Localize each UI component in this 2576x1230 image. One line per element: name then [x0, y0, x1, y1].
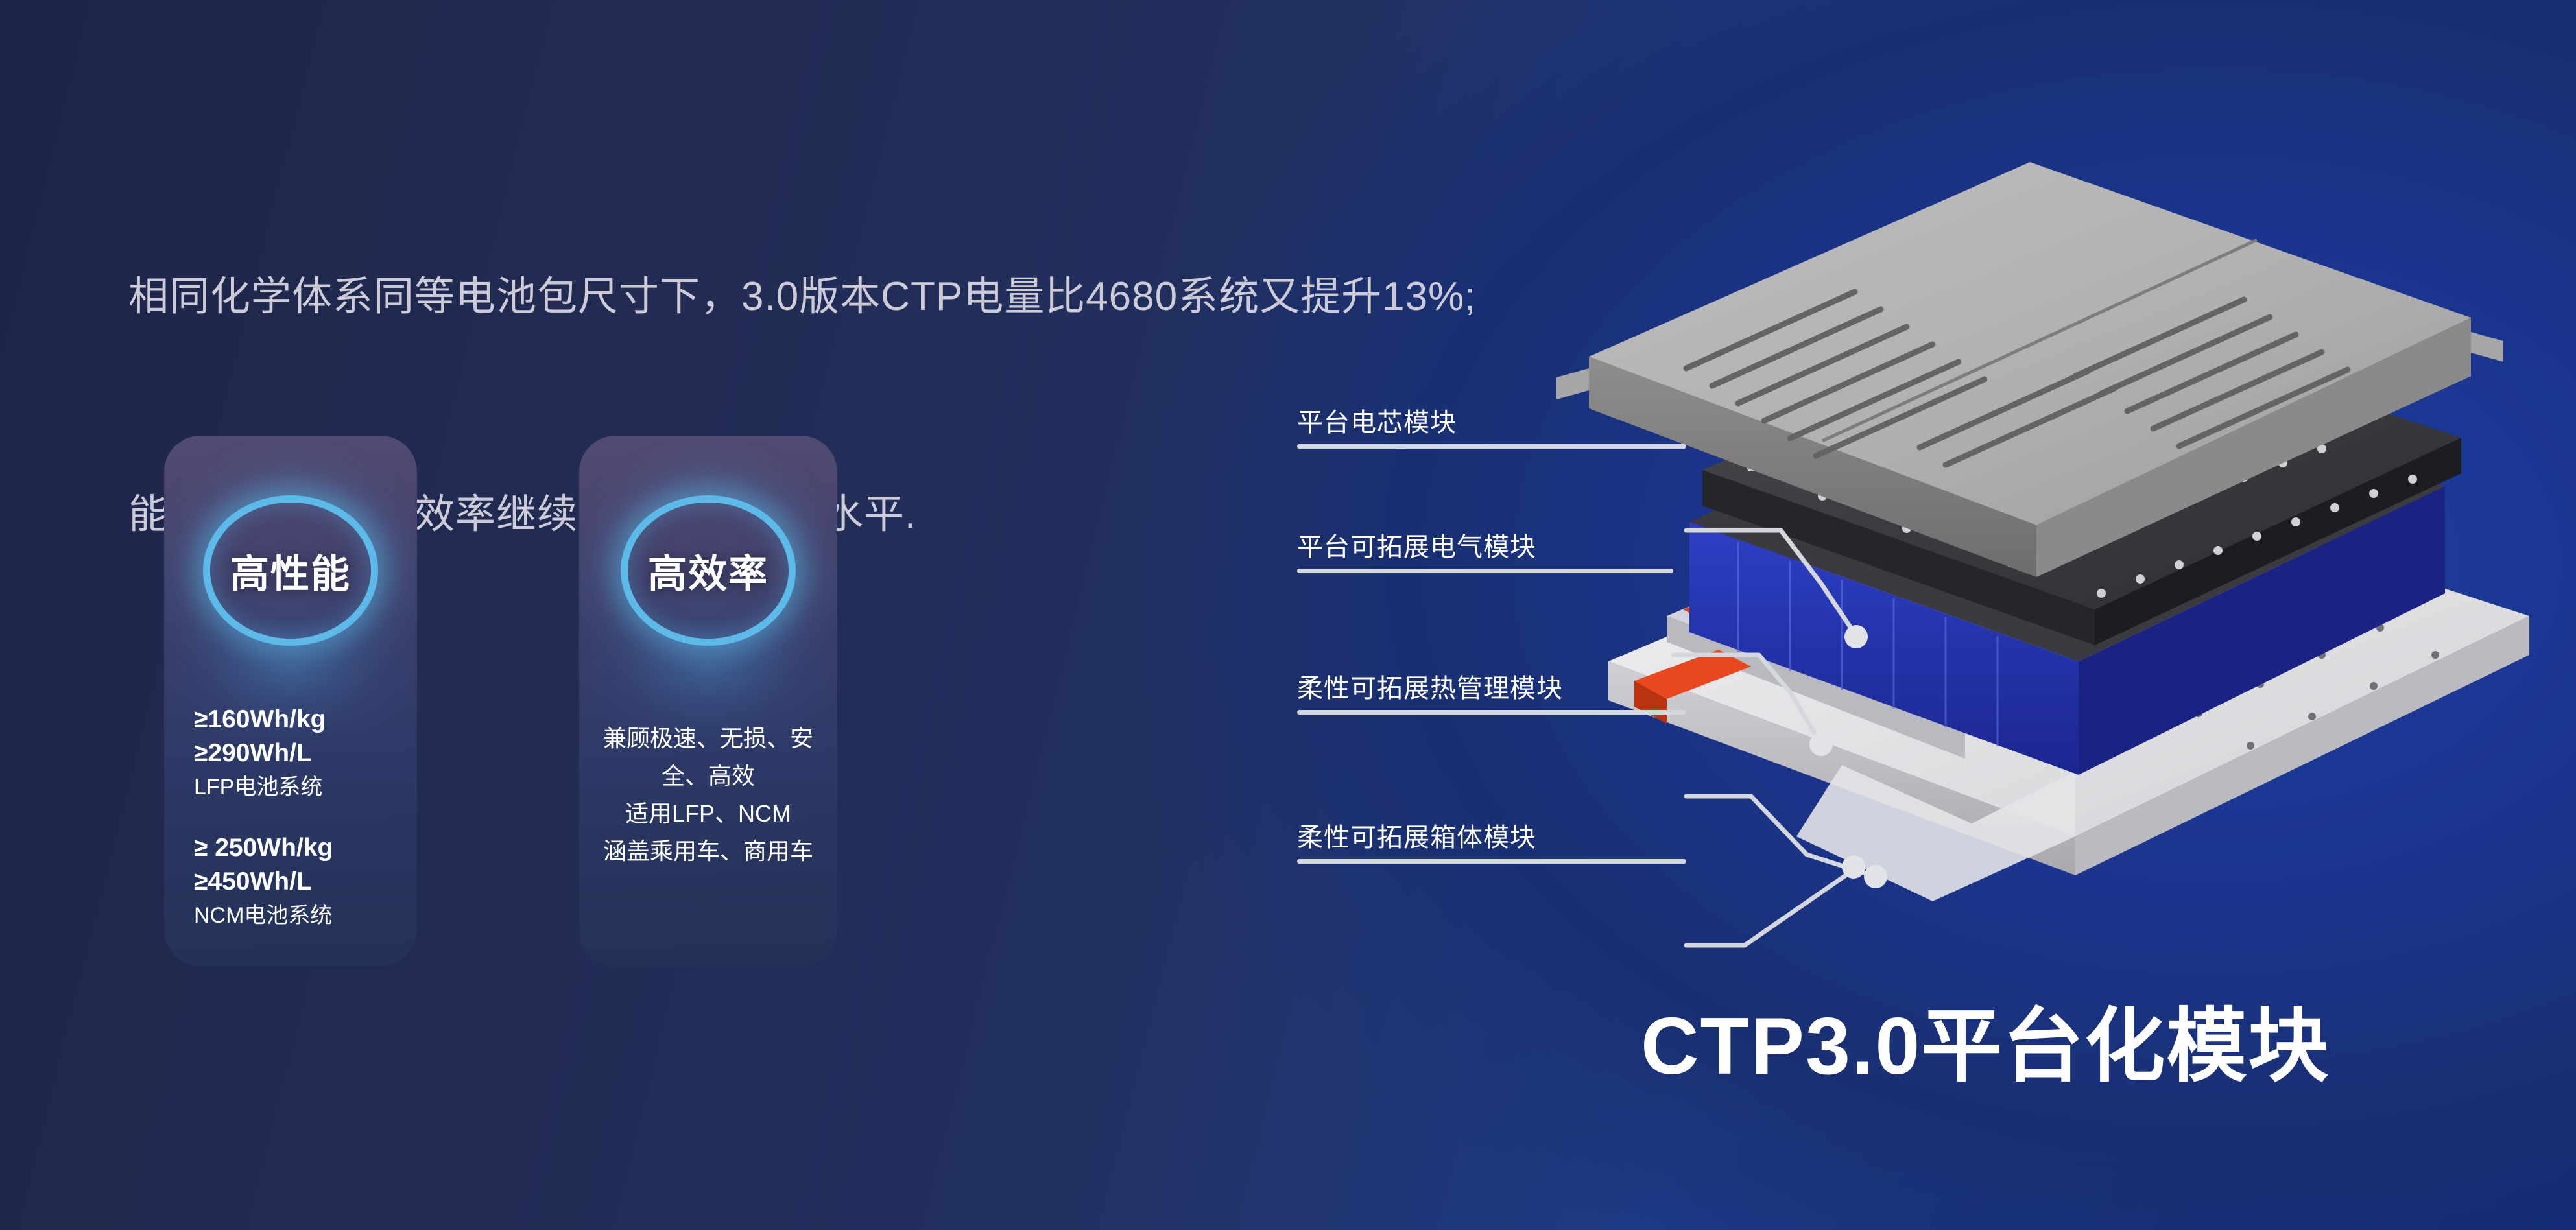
spec-caption-lfp: LFP电池系统: [194, 772, 408, 803]
efficiency-line-2: 全、高效: [588, 757, 828, 795]
callout-rule-2: [1297, 569, 1673, 573]
spec-value-lfp: ≥160Wh/kg ≥290Wh/L: [194, 703, 408, 770]
efficiency-line-1: 兼顾极速、无损、安: [588, 720, 828, 757]
page-title: CTP3.0平台化模块: [1641, 980, 2330, 1097]
spec-caption-ncm: NCM电池系统: [194, 900, 408, 931]
callout-platform-cell-module: 平台电芯模块: [1297, 402, 1309, 449]
slide-root: 相同化学体系同等电池包尺寸下，3.0版本CTP电量比4680系统又提升13%; …: [0, 0, 2576, 1230]
callout-thermal-management-module: 柔性可拓展热管理模块: [1297, 668, 1309, 715]
headline-line-1: 相同化学体系同等电池包尺寸下，3.0版本CTP电量比4680系统又提升13%;: [128, 261, 1685, 333]
battery-illustration: [1518, 162, 2568, 992]
callout-label-2: 平台可拓展电气模块: [1297, 532, 1536, 563]
ring-badge-efficiency: 高效率: [621, 495, 796, 646]
callout-label-3: 柔性可拓展热管理模块: [1297, 673, 1563, 704]
efficiency-line-3: 适用LFP、NCM: [588, 795, 828, 833]
efficiency-description: 兼顾极速、无损、安 全、高效 适用LFP、NCM 涵盖乘用车、商用车: [579, 720, 837, 870]
callout-rule-4: [1297, 859, 1686, 864]
ring-label-efficiency: 高效率: [621, 495, 796, 646]
battery-pack-exploded-diagram: [1518, 162, 2568, 992]
ring-label-performance: 高性能: [203, 495, 378, 646]
feature-card-efficiency[interactable]: 高效率 兼顾极速、无损、安 全、高效 适用LFP、NCM 涵盖乘用车、商用车: [579, 436, 837, 966]
spec-value-ncm: ≥ 250Wh/kg ≥450Wh/L: [194, 831, 408, 899]
callout-rule-1: [1297, 444, 1686, 449]
ring-badge-performance: 高性能: [203, 495, 378, 646]
spec-group-ncm: ≥ 250Wh/kg ≥450Wh/L NCM电池系统: [194, 831, 408, 931]
feature-card-performance[interactable]: 高性能 ≥160Wh/kg ≥290Wh/L LFP电池系统 ≥ 250Wh/k…: [164, 436, 417, 966]
callout-case-module: 柔性可拓展箱体模块: [1297, 817, 1309, 864]
callout-rule-3: [1297, 710, 1686, 715]
callout-platform-electrical-module: 平台可拓展电气模块: [1297, 526, 1309, 573]
callout-label-4: 柔性可拓展箱体模块: [1297, 822, 1536, 853]
callout-label-1: 平台电芯模块: [1297, 407, 1457, 438]
efficiency-line-4: 涵盖乘用车、商用车: [588, 833, 828, 870]
spec-group-lfp: ≥160Wh/kg ≥290Wh/L LFP电池系统: [194, 703, 408, 803]
